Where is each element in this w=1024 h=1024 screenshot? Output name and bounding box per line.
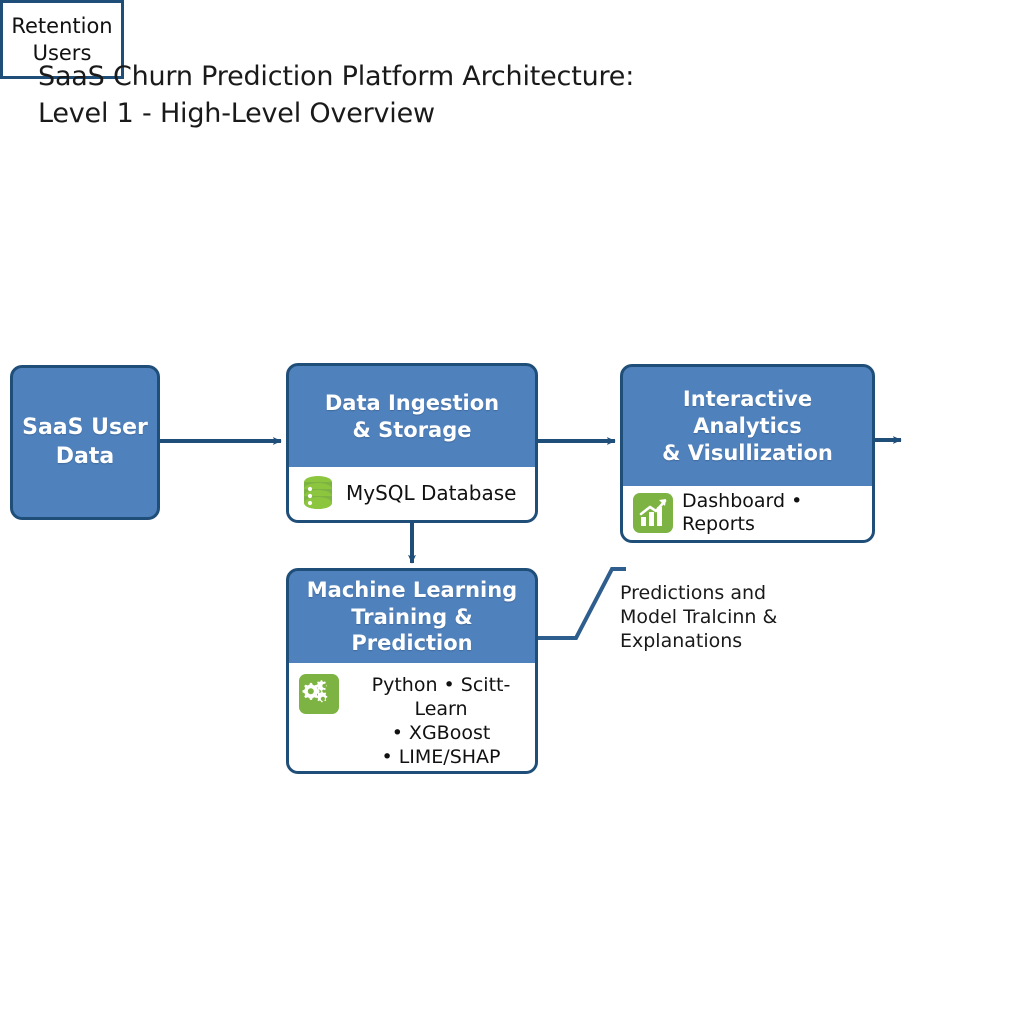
node-interactive-analytics-header: Interactive Analytics & Visullization — [623, 367, 872, 486]
edge-ml-to-analytics — [538, 569, 626, 638]
node-data-ingestion-tech-label: MySQL Database — [346, 481, 516, 505]
page-title: SaaS Churn Prediction Platform Architect… — [38, 58, 798, 133]
node-interactive-analytics[interactable]: Interactive Analytics & Visullization Da… — [620, 364, 875, 543]
node-saas-user-data-label: SaaS User Data — [13, 414, 157, 470]
node-machine-learning-body: Python • Scitt-Learn • XGBoost • LIME/SH… — [289, 663, 535, 771]
bar-chart-icon — [633, 493, 673, 533]
node-machine-learning-header: Machine Learning Training & Prediction — [289, 571, 535, 663]
node-interactive-analytics-tech-label: Dashboard • Reports — [682, 490, 872, 536]
database-icon — [301, 475, 335, 513]
node-interactive-analytics-body: Dashboard • Reports — [623, 486, 872, 540]
node-saas-user-data[interactable]: SaaS User Data — [10, 365, 160, 520]
node-machine-learning[interactable]: Machine Learning Training & Prediction P… — [286, 568, 538, 774]
gears-icon — [299, 674, 339, 714]
node-data-ingestion-header: Data Ingestion & Storage — [289, 366, 535, 467]
node-data-ingestion-body: MySQL Database — [289, 467, 535, 520]
node-machine-learning-tech-label: Python • Scitt-Learn • XGBoost • LIME/SH… — [347, 674, 535, 770]
edge-label-predictions: Predictions and Model Tralcinn & Explana… — [620, 582, 820, 654]
node-data-ingestion-storage[interactable]: Data Ingestion & Storage MySQL Database — [286, 363, 538, 523]
